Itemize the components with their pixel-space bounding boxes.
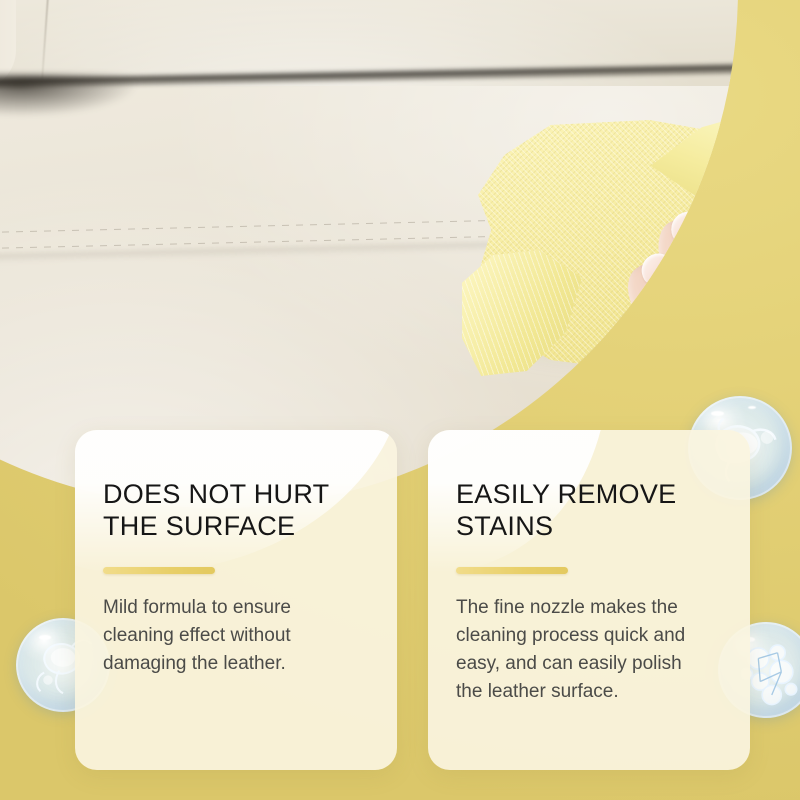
card-title: EASILY REMOVE STAINS <box>456 478 722 543</box>
card-title: DOES NOT HURT THE SURFACE <box>103 478 369 543</box>
sofa-seam-deep-shadow <box>0 74 210 118</box>
title-divider <box>456 567 568 574</box>
card-description: Mild formula to ensure cleaning effect w… <box>103 594 369 678</box>
feature-card-does-not-hurt-the-surface: DOES NOT HURT THE SURFACE Mild formula t… <box>75 430 397 770</box>
card-description: The fine nozzle makes the cleaning proce… <box>456 594 722 706</box>
feature-card-easily-remove-stains: EASILY REMOVE STAINS The fine nozzle mak… <box>428 430 750 770</box>
title-divider <box>103 567 215 574</box>
hand-with-cloth <box>468 104 738 404</box>
human-hand <box>618 142 738 408</box>
infographic-canvas: DOES NOT HURT THE SURFACE Mild formula t… <box>0 0 800 800</box>
bubble-highlight <box>39 635 51 640</box>
bubble-highlight <box>711 411 724 416</box>
